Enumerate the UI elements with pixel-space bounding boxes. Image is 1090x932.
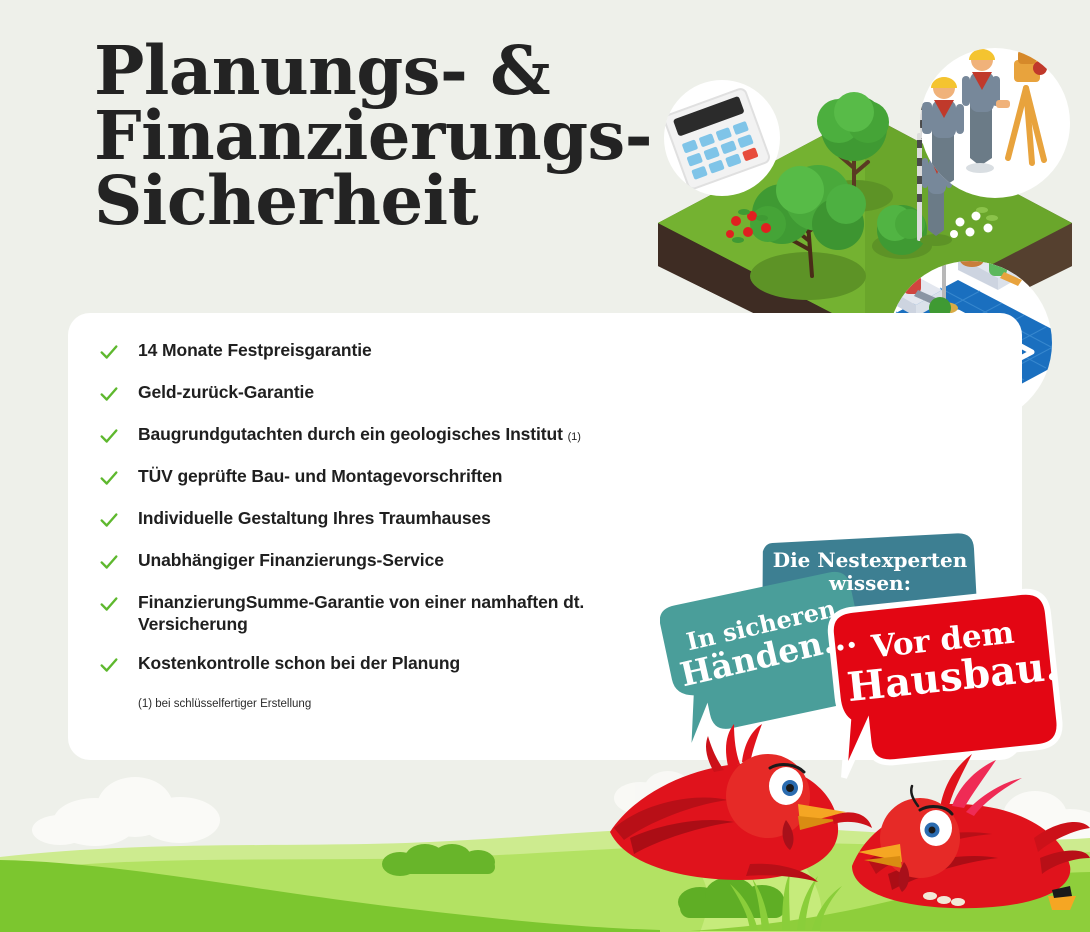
list-item-label: 14 Monate Festpreisgarantie xyxy=(138,339,372,361)
check-icon xyxy=(98,654,120,676)
red-flowers xyxy=(726,209,771,243)
surveyor-front xyxy=(916,77,964,195)
red-bird-right xyxy=(852,754,1090,910)
list-item: Individuelle Gestaltung Ihres Traumhause… xyxy=(98,507,698,533)
tree-tall xyxy=(817,92,889,196)
check-icon xyxy=(98,467,120,489)
list-item-label: Individuelle Gestaltung Ihres Traumhause… xyxy=(138,507,491,529)
red-birds-illustration xyxy=(600,720,1090,932)
person-laptop xyxy=(989,238,1022,286)
list-item-label: FinanzierungSumme-Garantie von einer nam… xyxy=(138,591,638,636)
title-line-2: Finanzierungs- xyxy=(94,103,694,168)
check-icon xyxy=(98,425,120,447)
bush-shadow xyxy=(872,233,932,259)
list-item-label: TÜV geprüfte Bau- und Montagevorschrifte… xyxy=(138,465,502,487)
check-icon xyxy=(98,341,120,363)
list-item: Kostenkontrolle schon bei der Planung xyxy=(98,652,698,678)
list-item: Unabhängiger Finanzierungs-Service xyxy=(98,549,698,575)
list-item: 14 Monate Festpreisgarantie xyxy=(98,339,698,365)
check-icon xyxy=(98,551,120,573)
check-icon xyxy=(98,593,120,615)
list-item: TÜV geprüfte Bau- und Montagevorschrifte… xyxy=(98,465,698,491)
tree-shadow-2 xyxy=(750,252,866,300)
floor-lamp xyxy=(930,240,958,314)
tree-shadow-1 xyxy=(817,180,893,212)
bubble-top-label: Die Nestexperten wissen: xyxy=(770,549,970,595)
red-bird-left xyxy=(610,724,872,882)
armchair xyxy=(890,276,942,317)
sofa xyxy=(958,233,1036,290)
list-item-label: Unabhängiger Finanzierungs-Service xyxy=(138,549,444,571)
list-item-label: Kostenkontrolle schon bei der Planung xyxy=(138,652,460,674)
infographic-root: Planungs- & Finanzierungs- Sicherheit xyxy=(0,0,1090,932)
footnote-text: (1) bei schlüsselfertiger Erstellung xyxy=(138,698,698,710)
tree-broad xyxy=(750,165,866,276)
check-icon xyxy=(98,383,120,405)
list-item: FinanzierungSumme-Garantie von einer nam… xyxy=(98,591,698,636)
list-item-label: Geld-zurück-Garantie xyxy=(138,381,314,403)
surveyor-on-plot xyxy=(917,133,952,246)
surveyor-standing xyxy=(962,49,1010,173)
page-title: Planungs- & Finanzierungs- Sicherheit xyxy=(94,38,694,233)
white-flowers xyxy=(950,207,998,238)
dog xyxy=(960,248,988,267)
bush-round xyxy=(877,205,927,255)
list-item: Geld-zurück-Garantie xyxy=(98,381,698,407)
title-line-3: Sicherheit xyxy=(94,168,694,233)
footnote-marker: (1) xyxy=(568,431,581,443)
surveyors-badge xyxy=(916,48,1070,198)
plot-grass-top xyxy=(658,113,1072,330)
person-reading xyxy=(903,256,936,304)
list-item: Baugrundgutachten durch ein geologisches… xyxy=(98,423,698,449)
check-icon xyxy=(98,509,120,531)
list-item-label: Baugrundgutachten durch ein geologisches… xyxy=(138,423,581,445)
title-line-1: Planungs- & xyxy=(94,38,694,103)
feature-checklist: 14 Monate Festpreisgarantie Geld-zurück-… xyxy=(98,339,698,710)
